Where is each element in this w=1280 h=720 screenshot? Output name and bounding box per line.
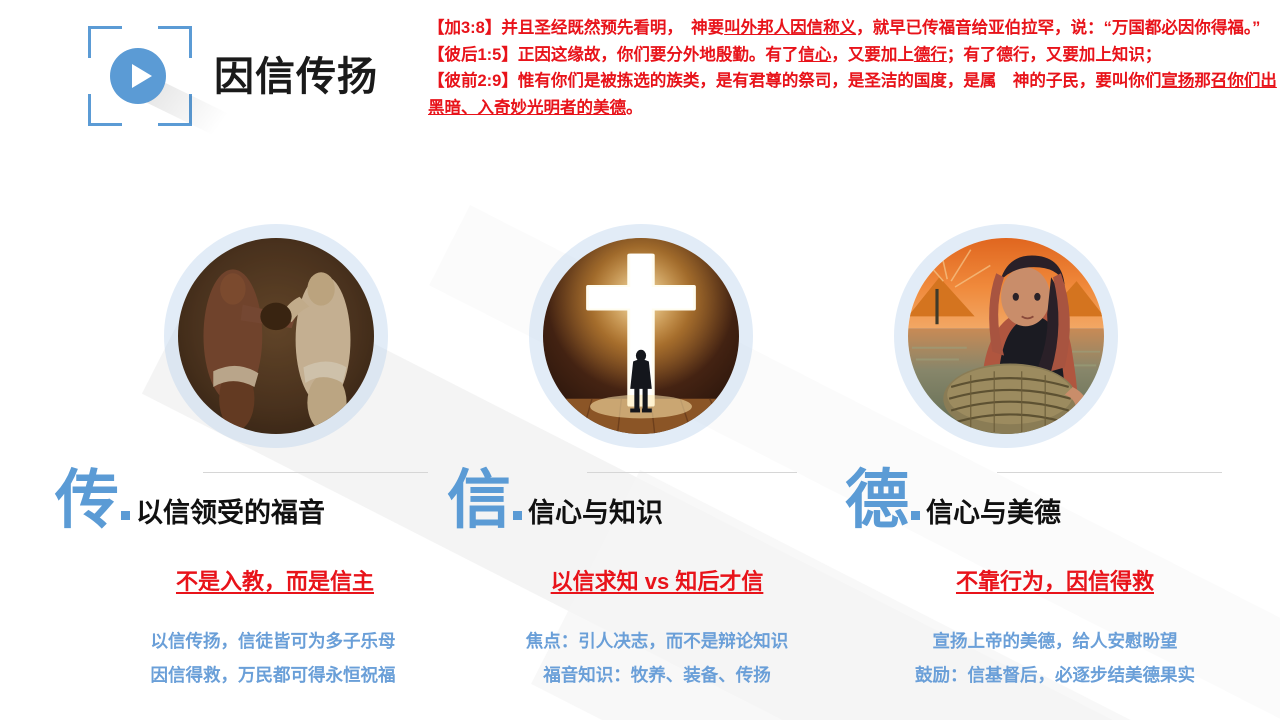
column-heading: 信 信心与知识 bbox=[447, 468, 663, 532]
square-dot-icon bbox=[121, 511, 130, 520]
bullet-item: 焦点：引人决志，而不是辩论知识 bbox=[447, 625, 867, 659]
column-subtitle: 信心与美德 bbox=[926, 500, 1061, 527]
column-heading: 德 信心与美德 bbox=[845, 468, 1061, 532]
bullet-item: 宣扬上帝的美德，给人安慰盼望 bbox=[845, 625, 1265, 659]
column-big-char: 德 bbox=[845, 468, 909, 532]
column-bullets: 焦点：引人决志，而不是辩论知识 福音知识：牧养、装备、传扬 bbox=[447, 625, 867, 692]
square-dot-icon bbox=[513, 511, 522, 520]
bullet-item: 因信得救，万民都可得永恒祝福 bbox=[63, 659, 483, 693]
column-highlight: 以信求知 vs 知后才信 bbox=[447, 564, 867, 596]
column-subtitle: 以信领受的福音 bbox=[136, 500, 325, 527]
column-highlight: 不靠行为，因信得救 bbox=[845, 564, 1265, 596]
square-dot-icon bbox=[911, 511, 920, 520]
column-bullets: 以信传扬，信徒皆可为多子乐母 因信得救，万民都可得永恒祝福 bbox=[63, 625, 483, 692]
column-highlight: 不是入教，而是信主 bbox=[65, 564, 485, 596]
column-big-char: 传 bbox=[55, 468, 119, 532]
column-bullets: 宣扬上帝的美德，给人安慰盼望 鼓励：信基督后，必逐步结美德果实 bbox=[845, 625, 1265, 692]
bullet-item: 以信传扬，信徒皆可为多子乐母 bbox=[63, 625, 483, 659]
column-subtitle: 信心与知识 bbox=[528, 500, 663, 527]
content-columns: 传 以信领受的福音 不是入教，而是信主 以信传扬，信徒皆可为多子乐母 因信得救，… bbox=[0, 0, 1280, 720]
column-big-char: 信 bbox=[447, 468, 511, 532]
bullet-item: 鼓励：信基督后，必逐步结美德果实 bbox=[845, 659, 1265, 693]
column-heading: 传 以信领受的福音 bbox=[55, 468, 325, 532]
bullet-item: 福音知识：牧养、装备、传扬 bbox=[447, 659, 867, 693]
